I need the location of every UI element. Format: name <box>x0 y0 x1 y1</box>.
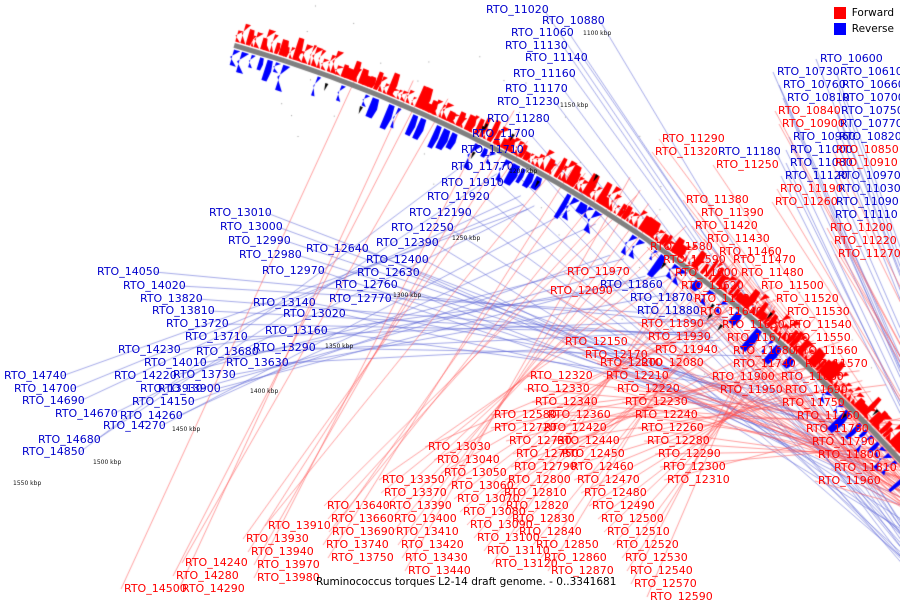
gene-label-reverse[interactable]: RTO_10770 <box>840 118 900 129</box>
gene-label-reverse[interactable]: RTO_11060 <box>511 27 574 38</box>
gene-label-forward[interactable]: RTO_14500 <box>124 583 187 594</box>
gene-label-reverse[interactable]: RTO_12970 <box>262 265 325 276</box>
gene-label-reverse[interactable]: RTO_10760 <box>783 79 846 90</box>
gene-label-forward[interactable]: RTO_11960 <box>818 475 881 486</box>
legend-swatch-reverse <box>834 23 846 35</box>
gene-label-forward[interactable]: RTO_12210 <box>606 370 669 381</box>
gene-label-reverse[interactable]: RTO_11110 <box>835 209 898 220</box>
gene-label-forward[interactable]: RTO_13940 <box>251 546 314 557</box>
gene-label-forward[interactable]: RTO_12570 <box>634 578 697 589</box>
scale-tick-label: 1550 kbp <box>13 481 41 487</box>
gene-label-forward[interactable]: RTO_11580 <box>650 241 713 252</box>
gene-label-forward[interactable]: RTO_12470 <box>577 474 640 485</box>
gene-label-forward[interactable]: RTO_11190 <box>780 183 843 194</box>
gene-label-forward[interactable]: RTO_11800 <box>818 449 881 460</box>
gene-label-reverse[interactable]: RTO_11140 <box>525 52 588 63</box>
gene-label-forward[interactable]: RTO_11470 <box>733 254 796 265</box>
gene-label-forward[interactable]: RTO_11560 <box>795 345 858 356</box>
gene-label-forward[interactable]: RTO_11260 <box>775 196 838 207</box>
gene-label-forward[interactable]: RTO_12490 <box>592 500 655 511</box>
gene-label-reverse[interactable]: RTO_13010 <box>209 207 272 218</box>
gene-label-forward[interactable]: RTO_13740 <box>326 539 389 550</box>
gene-label-reverse[interactable]: RTO_13930 <box>140 383 203 394</box>
gene-label-reverse[interactable]: RTO_11020 <box>486 4 549 15</box>
gene-label-forward[interactable]: RTO_12330 <box>527 383 590 394</box>
gene-label-forward[interactable]: RTO_12540 <box>630 565 693 576</box>
gene-label-reverse[interactable]: RTO_14850 <box>22 446 85 457</box>
gene-label-forward[interactable]: RTO_10910 <box>835 157 898 168</box>
gene-label-forward[interactable]: RTO_11480 <box>741 267 804 278</box>
gene-label-forward[interactable]: RTO_11890 <box>641 318 704 329</box>
gene-label-reverse[interactable]: RTO_12400 <box>366 254 429 265</box>
gene-label-reverse[interactable]: RTO_11870 <box>630 292 693 303</box>
gene-label-reverse[interactable]: RTO_13290 <box>253 342 316 353</box>
gene-label-forward[interactable]: RTO_14240 <box>185 557 248 568</box>
gene-label-forward[interactable]: RTO_11420 <box>695 220 758 231</box>
gene-label-reverse[interactable]: RTO_14690 <box>22 395 85 406</box>
gene-label-forward[interactable]: RTO_13090 <box>470 519 533 530</box>
gene-label-reverse[interactable]: RTO_13810 <box>152 305 215 316</box>
gene-label-forward[interactable]: RTO_13390 <box>389 500 452 511</box>
gene-label-reverse[interactable]: RTO_11090 <box>836 196 899 207</box>
gene-label-forward[interactable]: RTO_13370 <box>384 487 447 498</box>
genome-diagram: RTO_11020RTO_10880RTO_11060RTO_11130RTO_… <box>0 0 900 600</box>
gene-label-forward[interactable]: RTO_11540 <box>789 319 852 330</box>
gene-label-forward[interactable]: RTO_12480 <box>584 487 647 498</box>
gene-label-forward[interactable]: RTO_12240 <box>635 409 698 420</box>
gene-label-forward[interactable]: RTO_11750 <box>782 397 845 408</box>
gene-label-forward[interactable]: RTO_13110 <box>487 545 550 556</box>
gene-label-forward[interactable]: RTO_10900 <box>782 118 845 129</box>
gene-label-forward[interactable]: RTO_12290 <box>658 448 721 459</box>
scale-tick-label: 1150 kbp <box>560 103 588 109</box>
gene-label-reverse[interactable]: RTO_14230 <box>118 344 181 355</box>
gene-label-forward[interactable]: RTO_11690 <box>785 384 848 395</box>
legend-swatch-forward <box>834 7 846 19</box>
gene-label-forward[interactable]: RTO_12200 <box>600 357 663 368</box>
gene-label-forward[interactable]: RTO_13970 <box>257 559 320 570</box>
gene-label-reverse[interactable]: RTO_12770 <box>329 293 392 304</box>
gene-label-reverse[interactable]: RTO_10600 <box>820 53 883 64</box>
gene-label-forward[interactable]: RTO_13040 <box>437 454 500 465</box>
gene-label-forward[interactable]: RTO_11430 <box>707 233 770 244</box>
gene-label-forward[interactable]: RTO_10840 <box>778 105 841 116</box>
gene-label-reverse[interactable]: RTO_13820 <box>140 293 203 304</box>
gene-label-forward[interactable]: RTO_12150 <box>565 336 628 347</box>
scale-tick-label: 1500 kbp <box>93 460 121 466</box>
gene-label-forward[interactable]: RTO_11950 <box>720 384 783 395</box>
gene-label-forward[interactable]: RTO_13050 <box>444 467 507 478</box>
gene-label-reverse[interactable]: RTO_10610 <box>840 66 900 77</box>
gene-label-forward[interactable]: RTO_12870 <box>551 565 614 576</box>
gene-label-forward[interactable]: RTO_12420 <box>544 422 607 433</box>
gene-label-forward[interactable]: RTO_11680 <box>733 345 796 356</box>
gene-label-forward[interactable]: RTO_11250 <box>716 159 779 170</box>
scale-tick-label: 1200 kbp <box>509 169 537 175</box>
gene-label-forward[interactable]: RTO_14280 <box>176 570 239 581</box>
gene-label-forward[interactable]: RTO_13930 <box>246 533 309 544</box>
gene-label-reverse[interactable]: RTO_12250 <box>391 222 454 233</box>
gene-label-forward[interactable]: RTO_13640 <box>327 500 390 511</box>
gene-label-forward[interactable]: RTO_13690 <box>332 526 395 537</box>
gene-label-reverse[interactable]: RTO_10960 <box>793 131 856 142</box>
gene-label-reverse[interactable]: RTO_11130 <box>505 40 568 51</box>
gene-label-forward[interactable]: RTO_12260 <box>641 422 704 433</box>
gene-label-forward[interactable]: RTO_11590 <box>663 254 726 265</box>
gene-label-reverse[interactable]: RTO_10700 <box>842 92 900 103</box>
scale-tick-label: 1100 kbp <box>583 31 611 37</box>
gene-label-forward[interactable]: RTO_12440 <box>557 435 620 446</box>
gene-label-reverse[interactable]: RTO_14740 <box>4 370 67 381</box>
gene-label-reverse[interactable]: RTO_10970 <box>838 170 900 181</box>
gene-label-forward[interactable]: RTO_13030 <box>428 441 491 452</box>
gene-label-forward[interactable]: RTO_13910 <box>268 520 331 531</box>
gene-label-forward[interactable]: RTO_11570 <box>805 358 868 369</box>
gene-label-forward[interactable]: RTO_13350 <box>382 474 445 485</box>
gene-label-reverse[interactable]: RTO_14020 <box>123 280 186 291</box>
gene-label-forward[interactable]: RTO_11270 <box>838 248 900 259</box>
gene-label-reverse[interactable]: RTO_11180 <box>718 146 781 157</box>
gene-label-forward[interactable]: RTO_10850 <box>836 144 899 155</box>
gene-label-forward[interactable]: RTO_13100 <box>477 532 540 543</box>
gene-label-forward[interactable]: RTO_12310 <box>667 474 730 485</box>
gene-label-forward[interactable]: RTO_13980 <box>257 572 320 583</box>
gene-label-reverse[interactable]: RTO_14220 <box>114 370 177 381</box>
gene-label-forward[interactable]: RTO_11810 <box>834 462 897 473</box>
gene-label-forward[interactable]: RTO_11640 <box>700 306 763 317</box>
gene-label-reverse[interactable]: RTO_11170 <box>505 83 568 94</box>
gene-label-forward[interactable]: RTO_13060 <box>451 480 514 491</box>
gene-label-forward[interactable]: RTO_11380 <box>686 194 749 205</box>
gene-label-forward[interactable]: RTO_13440 <box>408 565 471 576</box>
gene-label-reverse[interactable]: RTO_11770 <box>451 161 514 172</box>
gene-label-reverse[interactable]: RTO_13140 <box>253 297 316 308</box>
gene-label-forward[interactable]: RTO_11220 <box>834 235 897 246</box>
gene-label-reverse[interactable]: RTO_14270 <box>103 420 166 431</box>
gene-label-reverse[interactable]: RTO_11030 <box>838 183 900 194</box>
gene-label-reverse[interactable]: RTO_10730 <box>777 66 840 77</box>
scale-tick-label: 1450 kbp <box>172 427 200 433</box>
gene-label-forward[interactable]: RTO_11520 <box>776 293 839 304</box>
legend-label-reverse: Reverse <box>852 23 894 35</box>
gene-label-forward[interactable]: RTO_11630 <box>694 293 757 304</box>
gene-label-reverse[interactable]: RTO_13720 <box>166 318 229 329</box>
gene-label-reverse[interactable]: RTO_14010 <box>144 357 207 368</box>
gene-label-forward[interactable]: RTO_13070 <box>457 493 520 504</box>
gene-label-reverse[interactable]: RTO_12190 <box>409 207 472 218</box>
gene-label-reverse[interactable]: RTO_11230 <box>497 96 560 107</box>
gene-label-reverse[interactable]: RTO_11880 <box>637 305 700 316</box>
gene-label-forward[interactable]: RTO_11900 <box>712 371 775 382</box>
legend-label-forward: Forward <box>852 7 894 19</box>
gene-label-forward[interactable]: RTO_12520 <box>616 539 679 550</box>
gene-label-forward[interactable]: RTO_11600 <box>675 267 738 278</box>
gene-label-forward[interactable]: RTO_11500 <box>761 280 824 291</box>
gene-label-forward[interactable]: RTO_12460 <box>571 461 634 472</box>
gene-label-reverse[interactable]: RTO_10810 <box>787 92 850 103</box>
scale-tick-label: 1400 kbp <box>250 389 278 395</box>
gene-label-forward[interactable]: RTO_12230 <box>625 396 688 407</box>
gene-label-reverse[interactable]: RTO_14680 <box>38 434 101 445</box>
gene-label-forward[interactable]: RTO_11790 <box>812 436 875 447</box>
gene-label-forward[interactable]: RTO_13430 <box>405 552 468 563</box>
gene-label-forward[interactable]: RTO_13660 <box>331 513 394 524</box>
gene-label-forward[interactable]: RTO_11930 <box>648 331 711 342</box>
gene-label-forward[interactable]: RTO_13080 <box>463 506 526 517</box>
gene-label-reverse[interactable]: RTO_11920 <box>427 191 490 202</box>
gene-label-forward[interactable]: RTO_12800 <box>508 474 571 485</box>
gene-label-forward[interactable]: RTO_12220 <box>617 383 680 394</box>
gene-label-forward[interactable]: RTO_12450 <box>562 448 625 459</box>
gene-label-forward[interactable]: RTO_11670 <box>727 332 790 343</box>
gene-label-reverse[interactable]: RTO_10750 <box>841 105 900 116</box>
scale-tick-label: 1350 kbp <box>325 344 353 350</box>
diagram-caption: Ruminococcus torques L2-14 draft genome.… <box>316 576 616 588</box>
gene-label-reverse[interactable]: RTO_11160 <box>513 68 576 79</box>
gene-label-forward[interactable]: RTO_11660 <box>781 371 844 382</box>
gene-label-reverse[interactable]: RTO_10880 <box>542 15 605 26</box>
gene-label-reverse[interactable]: RTO_14700 <box>14 383 77 394</box>
gene-label-forward[interactable]: RTO_11320 <box>655 146 718 157</box>
gene-label-reverse[interactable]: RTO_13020 <box>283 308 346 319</box>
gene-label-forward[interactable]: RTO_11780 <box>806 423 869 434</box>
gene-label-reverse[interactable]: RTO_12990 <box>228 235 291 246</box>
gene-label-reverse[interactable]: RTO_12630 <box>357 267 420 278</box>
gene-label-forward[interactable]: RTO_11740 <box>733 358 796 369</box>
gene-label-forward[interactable]: RTO_11550 <box>788 332 851 343</box>
gene-label-reverse[interactable]: RTO_14670 <box>55 408 118 419</box>
gene-label-forward[interactable]: RTO_12790 <box>514 461 577 472</box>
gene-label-reverse[interactable]: RTO_13000 <box>220 221 283 232</box>
gene-label-forward[interactable]: RTO_11390 <box>701 207 764 218</box>
gene-label-forward[interactable]: RTO_13750 <box>331 552 394 563</box>
gene-label-reverse[interactable]: RTO_11910 <box>441 177 504 188</box>
gene-label-forward[interactable]: RTO_13120 <box>495 558 558 569</box>
gene-label-reverse[interactable]: RTO_11280 <box>487 113 550 124</box>
gene-label-forward[interactable]: RTO_11620 <box>681 280 744 291</box>
gene-label-reverse[interactable]: RTO_13630 <box>226 357 289 368</box>
gene-label-forward[interactable]: RTO_12340 <box>535 396 598 407</box>
gene-label-forward[interactable]: RTO_12590 <box>650 591 713 600</box>
gene-label-forward[interactable]: RTO_11290 <box>662 133 725 144</box>
gene-label-forward[interactable]: RTO_12280 <box>647 435 710 446</box>
gene-label-forward[interactable]: RTO_11760 <box>797 410 860 421</box>
gene-label-forward[interactable]: RTO_11940 <box>655 344 718 355</box>
gene-label-forward[interactable]: RTO_12530 <box>625 552 688 563</box>
gene-label-forward[interactable]: RTO_11200 <box>830 222 893 233</box>
gene-label-forward[interactable]: RTO_13420 <box>401 539 464 550</box>
gene-label-forward[interactable]: RTO_13410 <box>396 526 459 537</box>
gene-label-forward[interactable]: RTO_13400 <box>394 513 457 524</box>
gene-label-reverse[interactable]: RTO_13730 <box>173 369 236 380</box>
gene-label-reverse[interactable]: RTO_12760 <box>335 279 398 290</box>
gene-label-reverse[interactable]: RTO_12980 <box>239 249 302 260</box>
legend-item-forward: Forward <box>834 6 894 20</box>
gene-label-reverse[interactable]: RTO_10660 <box>842 79 900 90</box>
gene-label-reverse[interactable]: RTO_11710 <box>461 144 524 155</box>
gene-label-forward[interactable]: RTO_12500 <box>601 513 664 524</box>
gene-label-reverse[interactable]: RTO_11700 <box>472 128 535 139</box>
gene-label-forward[interactable]: RTO_11650 <box>722 319 785 330</box>
gene-label-forward[interactable]: RTO_12300 <box>663 461 726 472</box>
gene-label-forward[interactable]: RTO_11970 <box>567 266 630 277</box>
gene-label-reverse[interactable]: RTO_13710 <box>185 331 248 342</box>
gene-label-reverse[interactable]: RTO_13160 <box>265 325 328 336</box>
legend-item-reverse: Reverse <box>834 22 894 36</box>
gene-label-reverse[interactable]: RTO_14150 <box>132 396 195 407</box>
scale-tick-label: 1300 kbp <box>393 293 421 299</box>
gene-label-forward[interactable]: RTO_11530 <box>787 306 850 317</box>
gene-label-reverse[interactable]: RTO_12640 <box>306 243 369 254</box>
gene-label-forward[interactable]: RTO_14290 <box>182 583 245 594</box>
gene-label-reverse[interactable]: RTO_12390 <box>376 237 439 248</box>
gene-label-forward[interactable]: RTO_12360 <box>548 409 611 420</box>
scale-tick-label: 1250 kbp <box>452 236 480 242</box>
gene-label-reverse[interactable]: RTO_14050 <box>97 266 160 277</box>
gene-label-forward[interactable]: RTO_12510 <box>607 526 670 537</box>
legend: Forward Reverse <box>834 6 894 38</box>
gene-label-forward[interactable]: RTO_12090 <box>550 285 613 296</box>
gene-label-forward[interactable]: RTO_12320 <box>530 370 593 381</box>
